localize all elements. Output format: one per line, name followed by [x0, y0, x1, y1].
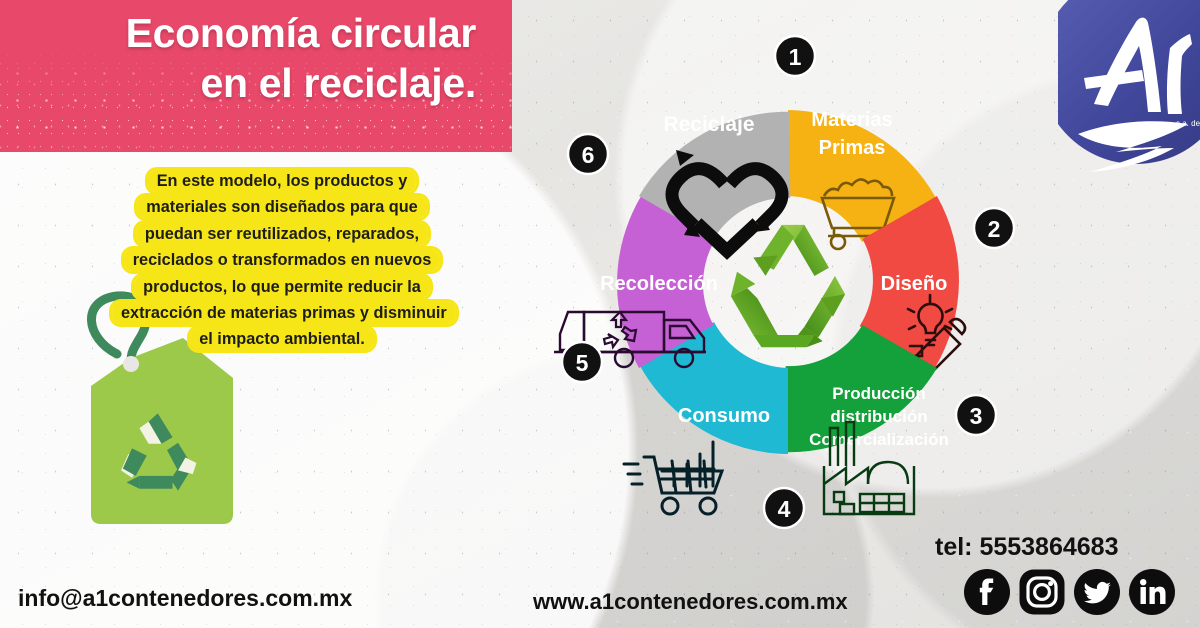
tag-hole: [123, 356, 139, 372]
instagram-icon[interactable]: [1018, 568, 1066, 616]
circular-economy-wheel: Materias Primas 1 Diseño 2: [524, 14, 1044, 559]
description-box: En este modelo, los productos y material…: [112, 168, 452, 353]
social-links[interactable]: [963, 568, 1176, 616]
segment-6-label: Reciclaje: [663, 113, 754, 136]
segment-3-label-line-1: Producción: [832, 384, 926, 403]
facebook-icon[interactable]: [963, 568, 1011, 616]
description-paragraph: En este modelo, los productos y material…: [112, 168, 452, 353]
segment-1-number: 1: [789, 44, 802, 70]
footer-email[interactable]: info@a1contenedores.com.mx: [18, 585, 352, 612]
segment-5-number: 5: [576, 350, 589, 376]
page-title-line-2: en el reciclaje.: [20, 58, 476, 108]
a1-logo: s.a. de c.v.: [1058, 0, 1200, 186]
description-text: En este modelo, los productos y material…: [112, 170, 456, 350]
title-banner: Economía circular en el reciclaje.: [0, 0, 512, 152]
segment-4-label: Consumo: [678, 405, 770, 427]
footer-phone[interactable]: tel: 5553864683: [935, 533, 1118, 562]
twitter-icon[interactable]: [1073, 568, 1121, 616]
segment-2-label: Diseño: [881, 273, 948, 295]
page-title: Economía circular en el reciclaje.: [0, 0, 512, 108]
segment-6-number: 6: [582, 142, 595, 168]
shopping-cart-chart-icon: [624, 442, 722, 514]
wheel-center-hub: [731, 225, 845, 347]
footer-website[interactable]: www.a1contenedores.com.mx: [533, 589, 848, 615]
segment-4-number: 4: [778, 496, 791, 522]
segment-1-label-line-2: Primas: [819, 137, 886, 159]
logo-tagline: s.a. de c.v.: [1176, 119, 1200, 128]
linkedin-icon[interactable]: [1128, 568, 1176, 616]
segment-5-label: Recolección: [600, 273, 718, 295]
recycling-arrows-icon: [731, 225, 845, 347]
segment-1-label-line-1: Materias: [811, 109, 892, 131]
page-title-line-1: Economía circular: [20, 8, 476, 58]
segment-3-number: 3: [970, 403, 983, 429]
segment-2-number: 2: [988, 216, 1001, 242]
